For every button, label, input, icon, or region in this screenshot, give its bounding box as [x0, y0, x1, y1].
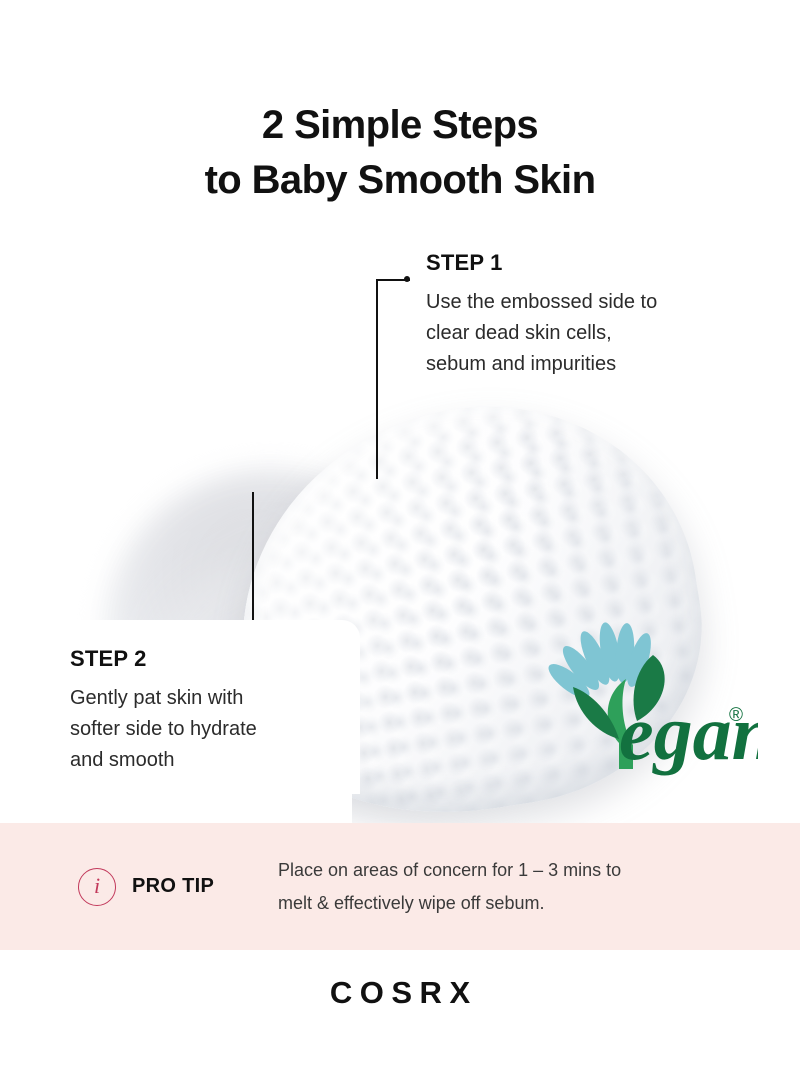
- infographic-page: 2 Simple Steps to Baby Smooth Skin STEP …: [0, 0, 800, 1067]
- pro-tip-text: Place on areas of concern for 1 – 3 mins…: [278, 854, 621, 920]
- info-circle-icon: i: [78, 868, 116, 906]
- vegan-badge: egan ®: [533, 617, 758, 782]
- title-line-1: 2 Simple Steps: [0, 98, 800, 153]
- title-line-2: to Baby Smooth Skin: [0, 153, 800, 208]
- step-2-body: Gently pat skin with softer side to hydr…: [70, 683, 340, 776]
- info-icon-glyph: i: [94, 875, 100, 897]
- step-1-leader-dot: [404, 276, 410, 282]
- step-2-body-line-1: Gently pat skin with: [70, 683, 340, 714]
- pro-tip-banner: i PRO TIP Place on areas of concern for …: [0, 823, 800, 950]
- vegan-trademark-symbol: ®: [729, 705, 743, 726]
- page-title: 2 Simple Steps to Baby Smooth Skin: [0, 98, 800, 208]
- step-2-body-line-3: and smooth: [70, 745, 340, 776]
- brand-logo: COSRX: [0, 975, 800, 1011]
- pro-tip-label: PRO TIP: [132, 875, 214, 898]
- step-1-block: STEP 1 Use the embossed side to clear de…: [426, 250, 756, 380]
- vegan-wordmark: egan: [619, 689, 758, 776]
- pro-tip-label-group: i PRO TIP: [78, 868, 278, 906]
- step-1-body-line-3: sebum and impurities: [426, 349, 756, 380]
- step-2-block: STEP 2 Gently pat skin with softer side …: [70, 620, 360, 794]
- step-2-body-line-2: softer side to hydrate: [70, 714, 340, 745]
- pro-tip-text-line-1: Place on areas of concern for 1 – 3 mins…: [278, 854, 621, 887]
- step-1-leader-vertical: [376, 279, 378, 479]
- pro-tip-text-line-2: melt & effectively wipe off sebum.: [278, 887, 621, 920]
- step-1-body-line-1: Use the embossed side to: [426, 287, 756, 318]
- step-1-body-line-2: clear dead skin cells,: [426, 318, 756, 349]
- step-2-heading: STEP 2: [70, 646, 340, 672]
- step-1-heading: STEP 1: [426, 250, 756, 276]
- step-1-body: Use the embossed side to clear dead skin…: [426, 287, 756, 380]
